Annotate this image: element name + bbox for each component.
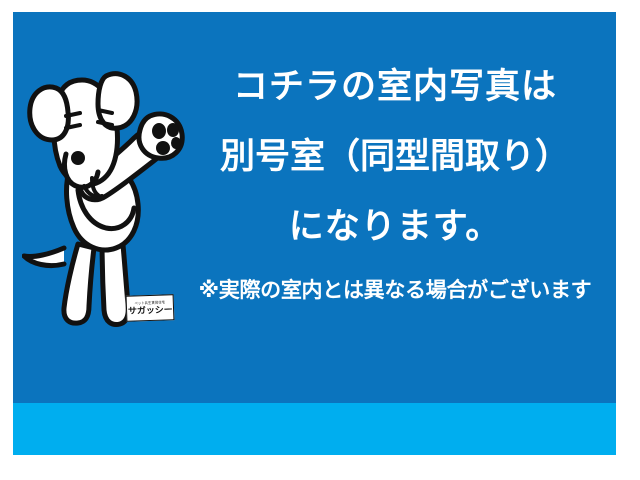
- mascot-brand-badge: ペット共生賃貸住宅 サガッシー: [126, 294, 175, 322]
- headline-line-3: になります。: [180, 192, 610, 262]
- dog-mascot-icon: [22, 58, 187, 328]
- bottom-cyan-strip: [13, 403, 616, 455]
- headline-line-1: コチラの室内写真は: [180, 52, 610, 122]
- dog-mascot-illustration: [22, 58, 187, 328]
- room-photo-placeholder-banner: ペット共生賃貸住宅 サガッシー コチラの室内写真は 別号室（同型間取り） になり…: [0, 0, 640, 480]
- headline-text-block: コチラの室内写真は 別号室（同型間取り） になります。: [180, 52, 610, 262]
- dog-nose: [71, 151, 85, 165]
- disclaimer-note: ※実際の室内とは異なる場合がございます: [178, 276, 612, 306]
- headline-line-2: 別号室（同型間取り）: [180, 122, 610, 192]
- mascot-badge-name: サガッシー: [128, 305, 173, 315]
